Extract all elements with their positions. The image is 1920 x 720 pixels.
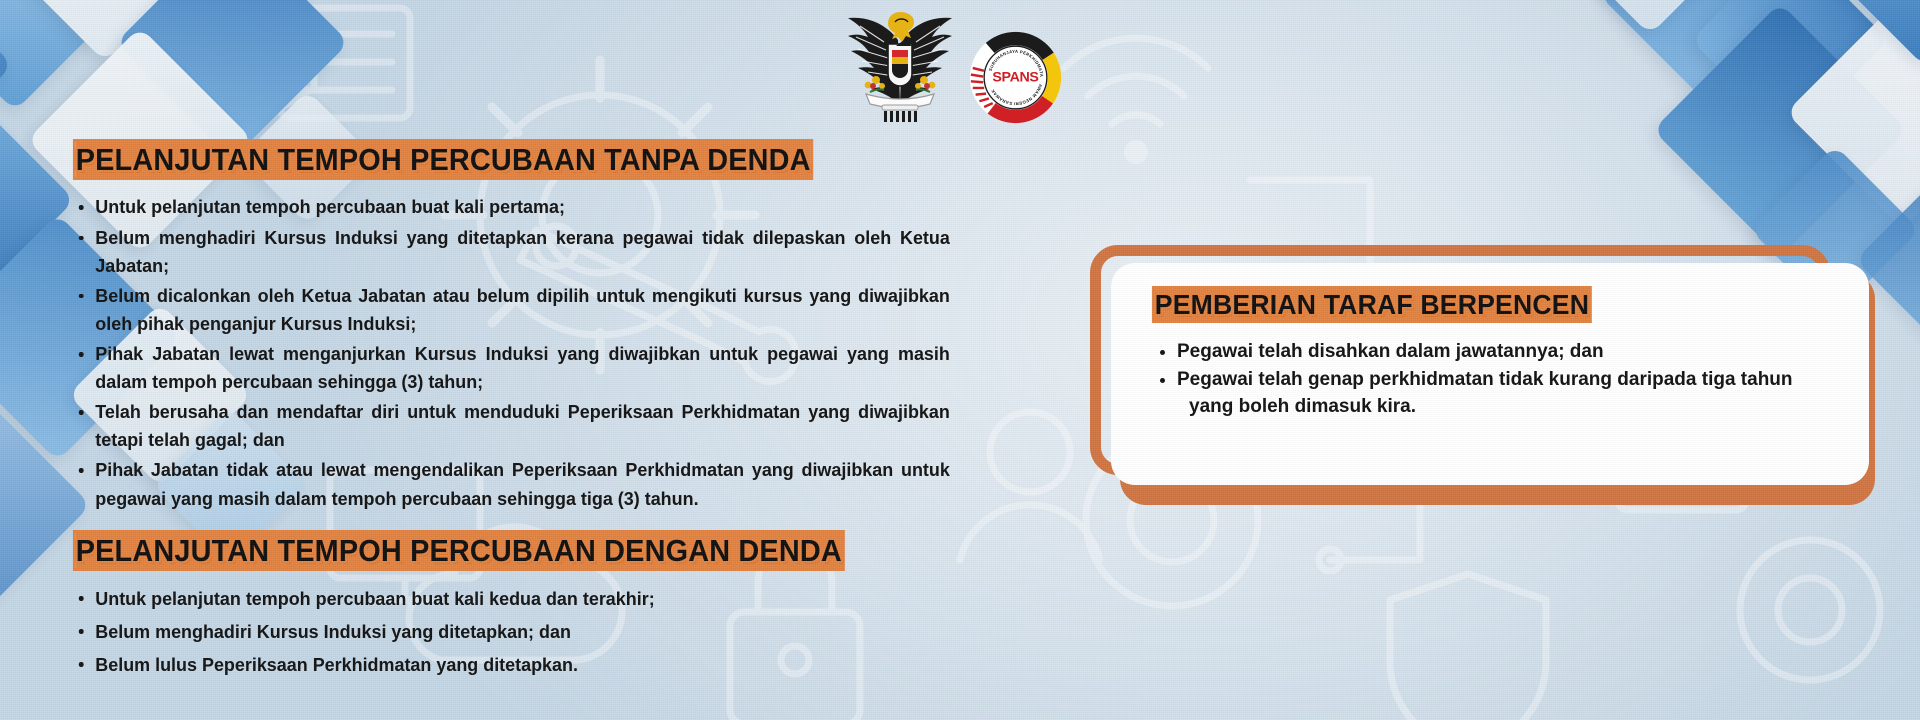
list-item-continuation: yang boleh dimasuk kira. bbox=[1177, 394, 1839, 421]
list-item: Pegawai telah genap perkhidmatan tidak k… bbox=[1151, 367, 1839, 421]
list-item: Pegawai telah disahkan dalam jawatannya;… bbox=[1151, 339, 1839, 366]
pension-status-card: PEMBERIAN TARAF BERPENCEN Pegawai telah … bbox=[1090, 245, 1880, 505]
spans-logo: SURUHANJAYA PERKHIDMATAN AWAM NEGERI SAR… bbox=[968, 30, 1063, 125]
list-item: Belum lulus Peperiksaan Perkhidmatan yan… bbox=[72, 650, 950, 680]
list-item-text: Pegawai telah genap perkhidmatan tidak k… bbox=[1177, 369, 1793, 390]
list-item: Untuk pelanjutan tempoh percubaan buat k… bbox=[72, 193, 950, 221]
poster-canvas: SURUHANJAYA PERKHIDMATAN AWAM NEGERI SAR… bbox=[0, 0, 1920, 720]
list-item: Belum menghadiri Kursus Induksi yang dit… bbox=[72, 617, 950, 647]
list-item: Untuk pelanjutan tempoh percubaan buat k… bbox=[72, 584, 950, 614]
bullet-list-dengan-denda: Untuk pelanjutan tempoh percubaan buat k… bbox=[72, 584, 977, 680]
card-heading: PEMBERIAN TARAF BERPENCEN bbox=[1151, 289, 1593, 323]
sarawak-coat-of-arms bbox=[840, 6, 960, 124]
section-heading-tanpa-denda: PELANJUTAN TEMPOH PERCUBAAN TANPA DENDA bbox=[72, 142, 814, 179]
card-body: PEMBERIAN TARAF BERPENCEN Pegawai telah … bbox=[1111, 263, 1869, 485]
list-item-text: Pegawai telah disahkan dalam jawatannya;… bbox=[1177, 341, 1604, 362]
card-bullet-list: Pegawai telah disahkan dalam jawatannya;… bbox=[1151, 339, 1839, 421]
left-content-column: PELANJUTAN TEMPOH PERCUBAAN TANPA DENDA … bbox=[72, 142, 977, 683]
list-item: Telah berusaha dan mendaftar diri untuk … bbox=[72, 398, 950, 454]
spans-logo-text: SPANS bbox=[992, 69, 1038, 85]
section-heading-dengan-denda: PELANJUTAN TEMPOH PERCUBAAN DENGAN DENDA bbox=[72, 533, 846, 570]
logo-group: SURUHANJAYA PERKHIDMATAN AWAM NEGERI SAR… bbox=[840, 6, 1090, 124]
list-item: Belum menghadiri Kursus Induksi yang dit… bbox=[72, 224, 950, 280]
list-item: Pihak Jabatan tidak atau lewat mengendal… bbox=[72, 456, 950, 512]
list-item: Belum dicalonkan oleh Ketua Jabatan atau… bbox=[72, 282, 950, 338]
list-item: Pihak Jabatan lewat menganjurkan Kursus … bbox=[72, 340, 950, 396]
bullet-list-tanpa-denda: Untuk pelanjutan tempoh percubaan buat k… bbox=[72, 193, 977, 512]
